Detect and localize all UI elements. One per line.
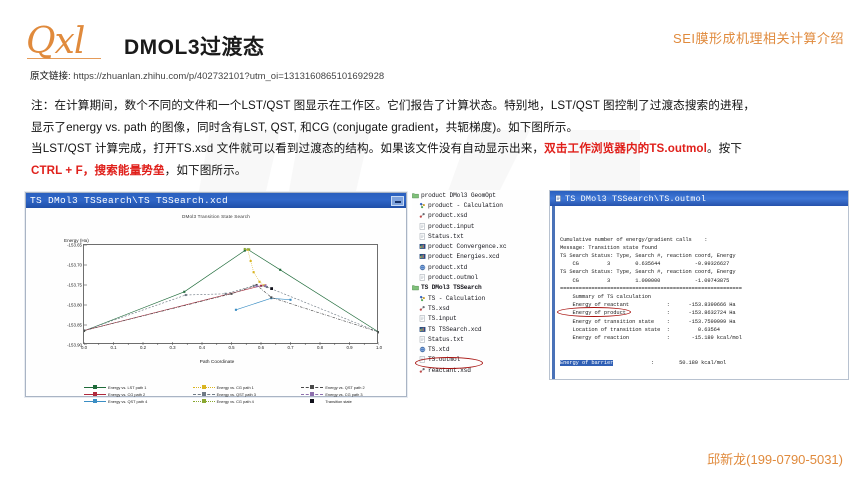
tree-item-ts-xtd[interactable]: TS.xtd bbox=[412, 344, 544, 354]
legend-swatch-icon bbox=[84, 385, 106, 390]
source-link-row: 原文链接: https://zhuanlan.zhihu.com/p/40273… bbox=[30, 68, 384, 82]
series-marker bbox=[289, 299, 291, 301]
series-marker bbox=[378, 331, 379, 333]
series-marker bbox=[244, 248, 246, 250]
legend-item: Energy vs. QST path 4 bbox=[84, 398, 187, 405]
plot-box: -153.65-153.70-153.75-153.80-153.85-153.… bbox=[83, 244, 378, 344]
x-tick-label: 0.2 bbox=[140, 345, 146, 350]
legend-item: Energy vs. LST path 1 bbox=[84, 384, 187, 391]
series-line bbox=[84, 249, 379, 332]
outmol-line: Message: Transition state found bbox=[560, 244, 844, 252]
tree-item-product-convergence-xc[interactable]: product Convergence.xc bbox=[412, 241, 544, 251]
legend-label: Energy vs. CG path 1 bbox=[217, 385, 254, 390]
series-marker bbox=[264, 285, 266, 287]
series-marker bbox=[253, 271, 255, 273]
series-marker bbox=[225, 293, 227, 295]
text-file-icon bbox=[419, 233, 426, 240]
series-line bbox=[236, 298, 291, 310]
brand-logo: Qxl bbox=[26, 24, 84, 60]
x-tick-label: 0.8 bbox=[317, 345, 323, 350]
tree-item-product-calculation[interactable]: product - Calculation bbox=[412, 200, 544, 210]
outmol-window: TS DMol3 TSSearch\TS.outmol Cumulative n… bbox=[549, 190, 849, 380]
series-marker bbox=[258, 281, 260, 283]
outmol-line: CG 3 1.000000 -1.09743875 bbox=[560, 277, 844, 285]
legend-item: Energy vs. QST path 3 bbox=[193, 391, 296, 398]
tree-item-status-txt[interactable]: Status.txt bbox=[412, 231, 544, 241]
outmol-barrier-label: Energy of barrier bbox=[560, 360, 613, 366]
text-file-icon bbox=[419, 223, 426, 230]
y-tick-label: -153.90 bbox=[67, 343, 82, 348]
structure-icon bbox=[419, 305, 426, 312]
series-marker bbox=[235, 309, 237, 311]
paragraph-4: CTRL + F，搜索能量势垒，如下图所示。 bbox=[31, 161, 841, 182]
tree-item-label: Status.txt bbox=[428, 233, 464, 240]
legend-label: Energy vs. QST path 2 bbox=[325, 385, 364, 390]
legend-label: Energy vs. QST path 4 bbox=[108, 399, 147, 404]
series-marker bbox=[230, 293, 232, 295]
series-marker bbox=[279, 269, 281, 271]
plot-area: Energy (Ha) -153.65-153.70-153.75-153.80… bbox=[26, 222, 408, 372]
outmol-line: CG 3 0.635644 -0.99326627 bbox=[560, 260, 844, 268]
series-marker bbox=[253, 285, 255, 287]
trajectory-icon bbox=[419, 264, 426, 271]
legend-swatch-icon bbox=[301, 392, 323, 397]
tree-list: product DMol3 GeomOptproduct - Calculati… bbox=[412, 190, 544, 375]
series-marker bbox=[270, 296, 272, 298]
outmol-line: TS Search Status: Type, Search #, reacti… bbox=[560, 252, 844, 260]
chart-title: DMol3 Transition State Search bbox=[26, 208, 406, 219]
outmol-gutter bbox=[552, 206, 555, 379]
chart-file-icon bbox=[419, 243, 426, 250]
tree-item-label: TS TSSearch.xcd bbox=[428, 326, 481, 333]
legend-label: Energy vs. LST path 1 bbox=[108, 385, 146, 390]
chart-window-title: TS DMol3 TSSearch\TS TSSearch.xcd bbox=[30, 195, 228, 206]
tree-item-label: product DMol3 GeomOpt bbox=[421, 192, 496, 199]
x-tick-label: 0.1 bbox=[110, 345, 116, 350]
outmol-line: Energy of transition state : -153.759099… bbox=[560, 318, 844, 326]
ts-outmol-highlight-ring bbox=[415, 357, 483, 369]
legend-swatch-icon bbox=[301, 399, 323, 404]
legend-label: Energy vs. CG path 2 bbox=[108, 392, 145, 397]
outmol-line: Energy of reaction : -15.189 kcal/mol bbox=[560, 334, 844, 342]
legend-swatch-icon bbox=[84, 399, 106, 404]
legend-label: Energy vs. CG path 4 bbox=[217, 399, 254, 404]
chart-window-body: DMol3 Transition State Search Energy (Ha… bbox=[26, 208, 406, 396]
legend-item: Energy vs. CG path 2 bbox=[84, 391, 187, 398]
series-marker bbox=[84, 330, 85, 332]
tree-item-label: product.input bbox=[428, 223, 474, 230]
legend-item: Energy vs. CG path 3 bbox=[301, 391, 404, 398]
structure-icon bbox=[419, 367, 426, 374]
project-file-tree[interactable]: product DMol3 GeomOptproduct - Calculati… bbox=[412, 190, 544, 380]
barrier-highlight-ring bbox=[557, 307, 631, 317]
tree-item-product-xtd[interactable]: product.xtd bbox=[412, 262, 544, 272]
legend-swatch-icon bbox=[301, 385, 323, 390]
paragraph-4-emphasis: CTRL + F，搜索能量势垒 bbox=[31, 164, 165, 177]
x-tick-label: 0.4 bbox=[199, 345, 205, 350]
outmol-lines: Cumulative number of energy/gradient cal… bbox=[560, 236, 844, 343]
x-tick-label: 0.6 bbox=[258, 345, 264, 350]
minimize-icon[interactable] bbox=[391, 196, 404, 206]
outmol-window-titlebar[interactable]: TS DMol3 TSSearch\TS.outmol bbox=[550, 191, 848, 206]
x-tick-label: 0.7 bbox=[287, 345, 293, 350]
logo-text: Qxl bbox=[26, 21, 84, 62]
x-axis-label: Path Coordinate bbox=[26, 360, 408, 365]
folder-icon bbox=[412, 192, 419, 199]
tree-item-product-input[interactable]: product.input bbox=[412, 221, 544, 231]
y-tick-label: -153.75 bbox=[67, 283, 82, 288]
text-file-icon bbox=[419, 274, 426, 281]
y-tick-label: -153.85 bbox=[67, 323, 82, 328]
tree-item-label: product - Calculation bbox=[428, 202, 503, 209]
x-tick-label: 0.0 bbox=[81, 345, 87, 350]
footer-contact: 邱新龙(199-0790-5031) bbox=[707, 449, 843, 468]
legend-label: Energy vs. QST path 3 bbox=[217, 392, 256, 397]
chart-file-icon bbox=[419, 326, 426, 333]
legend-label: Transition state bbox=[325, 399, 351, 404]
series-marker bbox=[256, 285, 258, 287]
chart-file-icon bbox=[419, 253, 426, 260]
chart-legend: Energy vs. LST path 1Energy vs. CG path … bbox=[84, 384, 404, 405]
structure-icon bbox=[419, 212, 426, 219]
tree-item-ts-tssearch-xcd[interactable]: TS TSSearch.xcd bbox=[412, 324, 544, 334]
paragraph-3: 当LST/QST 计算完成，打开TS.xsd 文件就可以看到过渡态的结构。如果该… bbox=[31, 139, 841, 160]
legend-item: Energy vs. CG path 4 bbox=[193, 398, 296, 405]
tree-item-product-energies-xcd[interactable]: product Energies.xcd bbox=[412, 252, 544, 262]
tree-item-status-txt[interactable]: Status.txt bbox=[412, 334, 544, 344]
document-icon bbox=[555, 195, 562, 202]
series-marker bbox=[248, 248, 250, 250]
paragraph-2: 显示了energy vs. path 的图像，同时含有LST, QST, 和CG… bbox=[31, 118, 841, 139]
folder-icon bbox=[412, 284, 419, 291]
series-marker bbox=[250, 260, 252, 262]
legend-item: Energy vs. QST path 2 bbox=[301, 384, 404, 391]
deck-series-title: SEI膜形成机理相关计算介绍 bbox=[673, 28, 844, 47]
legend-item: Energy vs. CG path 1 bbox=[193, 384, 296, 391]
page-title: DMOL3过渡态 bbox=[124, 31, 265, 61]
x-tick-label: 0.9 bbox=[346, 345, 352, 350]
tree-item-ts-dmol3-tssearch[interactable]: TS DMol3 TSSearch bbox=[412, 283, 544, 293]
paragraph-4-b: ，如下图所示。 bbox=[165, 164, 247, 177]
tree-item-label: TS.xtd bbox=[428, 346, 449, 353]
tree-item-label: TS.xsd bbox=[428, 305, 449, 312]
outmol-window-title: TS DMol3 TSSearch\TS.outmol bbox=[565, 194, 706, 204]
outmol-barrier-sep-value: : 50.180 kcal/mol bbox=[613, 360, 726, 366]
tree-item-label: product.outmol bbox=[428, 274, 478, 281]
trajectory-icon bbox=[419, 346, 426, 353]
legend-swatch-icon bbox=[193, 385, 215, 390]
source-link-label: 原文链接: bbox=[30, 71, 71, 82]
y-tick-label: -153.70 bbox=[67, 263, 82, 268]
legend-swatch-icon bbox=[193, 392, 215, 397]
tree-item-ts-xsd[interactable]: TS.xsd bbox=[412, 303, 544, 313]
tree-item-ts-calculation[interactable]: TS - Calculation bbox=[412, 293, 544, 303]
calculation-icon bbox=[419, 202, 426, 209]
tree-item-label: TS DMol3 TSSearch bbox=[421, 284, 482, 291]
x-tick-label: 0.5 bbox=[228, 345, 234, 350]
y-tick-label: -153.65 bbox=[67, 243, 82, 248]
chart-window-titlebar[interactable]: TS DMol3 TSSearch\TS TSSearch.xcd bbox=[26, 193, 406, 208]
outmol-line: ========================================… bbox=[560, 285, 844, 293]
outmol-line: Summary of TS calculation bbox=[560, 293, 844, 301]
tree-item-label: product Energies.xcd bbox=[428, 253, 499, 260]
tree-item-ts-input[interactable]: TS.input bbox=[412, 314, 544, 324]
body-copy: 注：在计算期间，数个不同的文件和一个LST/QST 图显示在工作区。它们报告了计… bbox=[31, 96, 841, 182]
chart-svg bbox=[84, 245, 379, 345]
paragraph-3-c: 。按下 bbox=[707, 142, 742, 155]
paragraph-3-emphasis: 双击工作浏览器内的TS.outmol bbox=[544, 142, 707, 155]
legend-item: Transition state bbox=[301, 398, 404, 405]
tree-item-label: TS - Calculation bbox=[428, 295, 485, 302]
x-tick-label: 1.0 bbox=[376, 345, 382, 350]
tree-item-label: product.xsd bbox=[428, 212, 467, 219]
text-file-icon bbox=[419, 315, 426, 322]
tree-item-product-dmol3-geomopt[interactable]: product DMol3 GeomOpt bbox=[412, 190, 544, 200]
tree-item-product-outmol[interactable]: product.outmol bbox=[412, 272, 544, 282]
series-marker bbox=[183, 291, 185, 293]
outmol-line: Cumulative number of energy/gradient cal… bbox=[560, 236, 844, 244]
legend-label: Energy vs. CG path 3 bbox=[325, 392, 362, 397]
calculation-icon bbox=[419, 295, 426, 302]
outmol-line: Location of transition state : 0.63564 bbox=[560, 326, 844, 334]
series-line bbox=[84, 285, 379, 332]
tree-item-label: Status.txt bbox=[428, 336, 464, 343]
slide: Qxl DMOL3过渡态 SEI膜形成机理相关计算介绍 原文链接: https:… bbox=[0, 0, 860, 484]
y-tick-label: -153.80 bbox=[67, 303, 82, 308]
series-line bbox=[248, 250, 264, 286]
series-marker bbox=[270, 287, 273, 290]
chart-window: TS DMol3 TSSearch\TS TSSearch.xcd DMol3 … bbox=[25, 192, 407, 397]
tree-item-label: product.xtd bbox=[428, 264, 467, 271]
outmol-text-body[interactable]: Cumulative number of energy/gradient cal… bbox=[550, 206, 848, 379]
legend-swatch-icon bbox=[84, 392, 106, 397]
paragraph-3-a: 当LST/QST 计算完成，打开TS.xsd 文件就可以看到过渡态的结构。如果该… bbox=[31, 142, 544, 155]
outmol-line: TS Search Status: Type, Search #, reacti… bbox=[560, 268, 844, 276]
source-link-url[interactable]: https://zhuanlan.zhihu.com/p/402732101?u… bbox=[73, 71, 384, 82]
outmol-barrier-line: Energy of barrier : 50.180 kcal/mol bbox=[560, 359, 844, 367]
tree-item-label: TS.input bbox=[428, 315, 457, 322]
text-file-icon bbox=[419, 336, 426, 343]
tree-item-label: product Convergence.xc bbox=[428, 243, 506, 250]
logo-underline bbox=[27, 58, 101, 59]
tree-item-product-xsd[interactable]: product.xsd bbox=[412, 211, 544, 221]
x-tick-label: 0.3 bbox=[169, 345, 175, 350]
paragraph-1: 注：在计算期间，数个不同的文件和一个LST/QST 图显示在工作区。它们报告了计… bbox=[31, 96, 841, 117]
legend-swatch-icon bbox=[193, 399, 215, 404]
series-marker bbox=[185, 294, 187, 296]
